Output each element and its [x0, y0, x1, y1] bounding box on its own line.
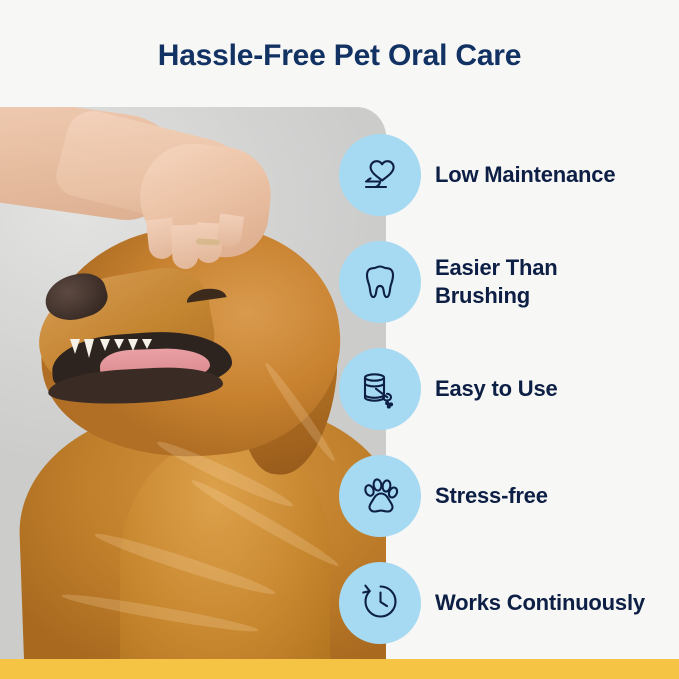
feature-label: Stress-free — [435, 482, 548, 510]
feature-list: Low Maintenance Easier Than Brushing — [339, 133, 679, 644]
tooth-icon — [359, 259, 401, 305]
feature-icon-badge — [339, 241, 421, 323]
feature-icon-badge — [339, 562, 421, 644]
feature-label: Easy to Use — [435, 375, 558, 403]
clock-rotate-icon — [357, 580, 403, 626]
dog-teeth — [70, 339, 160, 355]
jar-with-scoop-icon — [357, 366, 403, 412]
feature-icon-badge — [339, 348, 421, 430]
finger-ring — [196, 238, 220, 245]
feature-label: Low Maintenance — [435, 161, 615, 189]
feature-label: Works Continuously — [435, 589, 645, 617]
feature-item-works-continuously: Works Continuously — [339, 561, 679, 644]
product-photo — [0, 107, 386, 659]
feature-item-easy-to-use: Easy to Use — [339, 347, 679, 430]
heart-with-motion-lines-icon — [357, 152, 403, 198]
feature-item-stress-free: Stress-free — [339, 454, 679, 537]
feature-icon-badge — [339, 134, 421, 216]
human-finger — [171, 225, 199, 270]
page-title: Hassle-Free Pet Oral Care — [0, 36, 679, 76]
promo-poster: Hassle-Free Pet Oral Care — [0, 0, 679, 679]
feature-item-easier-than-brushing: Easier Than Brushing — [339, 240, 679, 323]
paw-print-icon — [358, 474, 402, 518]
feature-item-low-maintenance: Low Maintenance — [339, 133, 679, 216]
feature-icon-badge — [339, 455, 421, 537]
bottom-accent-bar — [0, 659, 679, 679]
feature-label: Easier Than Brushing — [435, 254, 645, 310]
